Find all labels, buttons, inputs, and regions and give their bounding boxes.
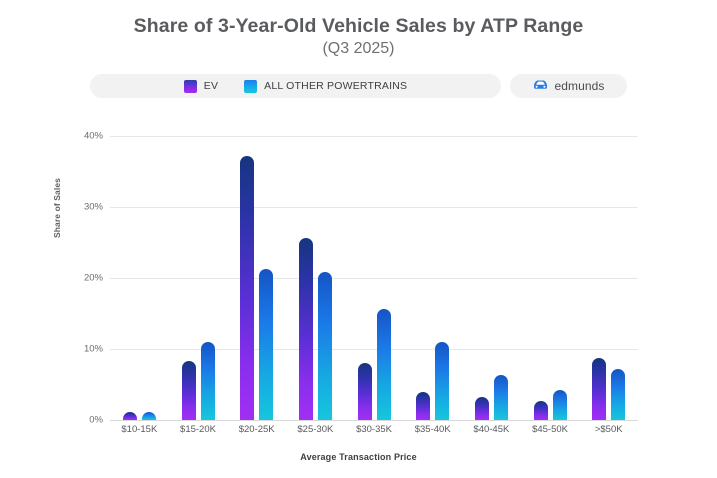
- bar-other[interactable]: [259, 269, 273, 420]
- bar-ev[interactable]: [534, 401, 548, 420]
- bar-other[interactable]: [318, 272, 332, 420]
- bar-group: [110, 136, 169, 420]
- x-axis-label: $35-40K: [403, 424, 462, 435]
- bar-ev[interactable]: [123, 412, 137, 420]
- bar-other[interactable]: [494, 375, 508, 420]
- bar-ev[interactable]: [592, 358, 606, 420]
- x-axis-label: $10-15K: [110, 424, 169, 435]
- x-axis-label: $20-25K: [227, 424, 286, 435]
- bar-ev[interactable]: [182, 361, 196, 420]
- x-axis-label: >$50K: [579, 424, 638, 435]
- ytick-label-10: 10%: [84, 344, 103, 355]
- y-axis-title: Share of Sales: [52, 118, 62, 238]
- ytick-label-30: 30%: [84, 202, 103, 213]
- bar-other[interactable]: [611, 369, 625, 420]
- x-axis-label: $15-20K: [169, 424, 228, 435]
- bar-ev[interactable]: [358, 363, 372, 421]
- bar-ev[interactable]: [475, 397, 489, 420]
- bar-other[interactable]: [142, 412, 156, 420]
- bar-group: [462, 136, 521, 420]
- bar-other[interactable]: [201, 342, 215, 420]
- bar-ev[interactable]: [299, 238, 313, 420]
- bar-group: [521, 136, 580, 420]
- ytick-label-0: 0%: [89, 415, 103, 426]
- ytick-label-20: 20%: [84, 273, 103, 284]
- bar-ev[interactable]: [416, 392, 430, 420]
- x-axis-label: $25-30K: [286, 424, 345, 435]
- bar-group: [227, 136, 286, 420]
- x-axis-label: $30-35K: [345, 424, 404, 435]
- bar-group: [403, 136, 462, 420]
- x-axis-label: $40-45K: [462, 424, 521, 435]
- bar-other[interactable]: [377, 309, 391, 420]
- bar-other[interactable]: [435, 342, 449, 420]
- bar-group: [579, 136, 638, 420]
- x-axis-label: $45-50K: [521, 424, 580, 435]
- bar-group: [345, 136, 404, 420]
- bars-layer: [110, 136, 638, 420]
- gridline-0: 0%: [110, 420, 638, 421]
- x-axis-labels: $10-15K$15-20K$20-25K$25-30K$30-35K$35-4…: [110, 424, 638, 435]
- plot-area: Share of Sales 40% 30% 20% 10% 0% $10-15…: [0, 0, 717, 478]
- bar-ev[interactable]: [240, 156, 254, 420]
- bar-other[interactable]: [553, 390, 567, 420]
- chart-card: Share of 3-Year-Old Vehicle Sales by ATP…: [0, 0, 717, 478]
- bar-group: [169, 136, 228, 420]
- bar-group: [286, 136, 345, 420]
- x-axis-title: Average Transaction Price: [0, 452, 717, 462]
- ytick-label-40: 40%: [84, 131, 103, 142]
